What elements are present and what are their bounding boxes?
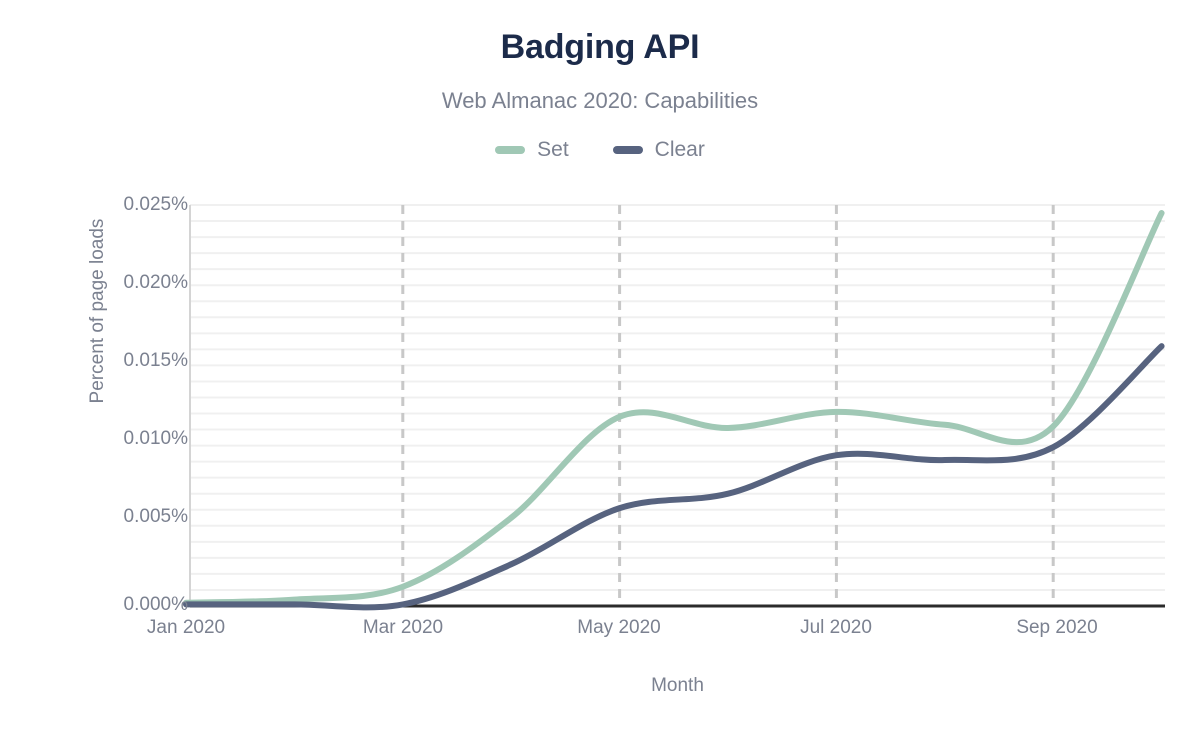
series-line-set bbox=[186, 213, 1162, 603]
gridlines-major-vertical bbox=[403, 205, 1053, 606]
x-tick-label: Mar 2020 bbox=[323, 617, 483, 639]
x-tick-label: Jan 2020 bbox=[106, 617, 266, 639]
x-tick-label: May 2020 bbox=[539, 617, 699, 639]
x-tick-label: Jul 2020 bbox=[756, 617, 916, 639]
gridlines-minor-horizontal bbox=[190, 205, 1165, 606]
y-tick-label: 0.005% bbox=[78, 506, 188, 528]
x-axis-title: Month bbox=[190, 675, 1165, 697]
y-tick-label: 0.000% bbox=[78, 594, 188, 616]
chart-container: Badging API Web Almanac 2020: Capabiliti… bbox=[0, 0, 1200, 742]
y-axis-title: Percent of page loads bbox=[87, 161, 109, 461]
x-tick-label: Sep 2020 bbox=[977, 617, 1137, 639]
